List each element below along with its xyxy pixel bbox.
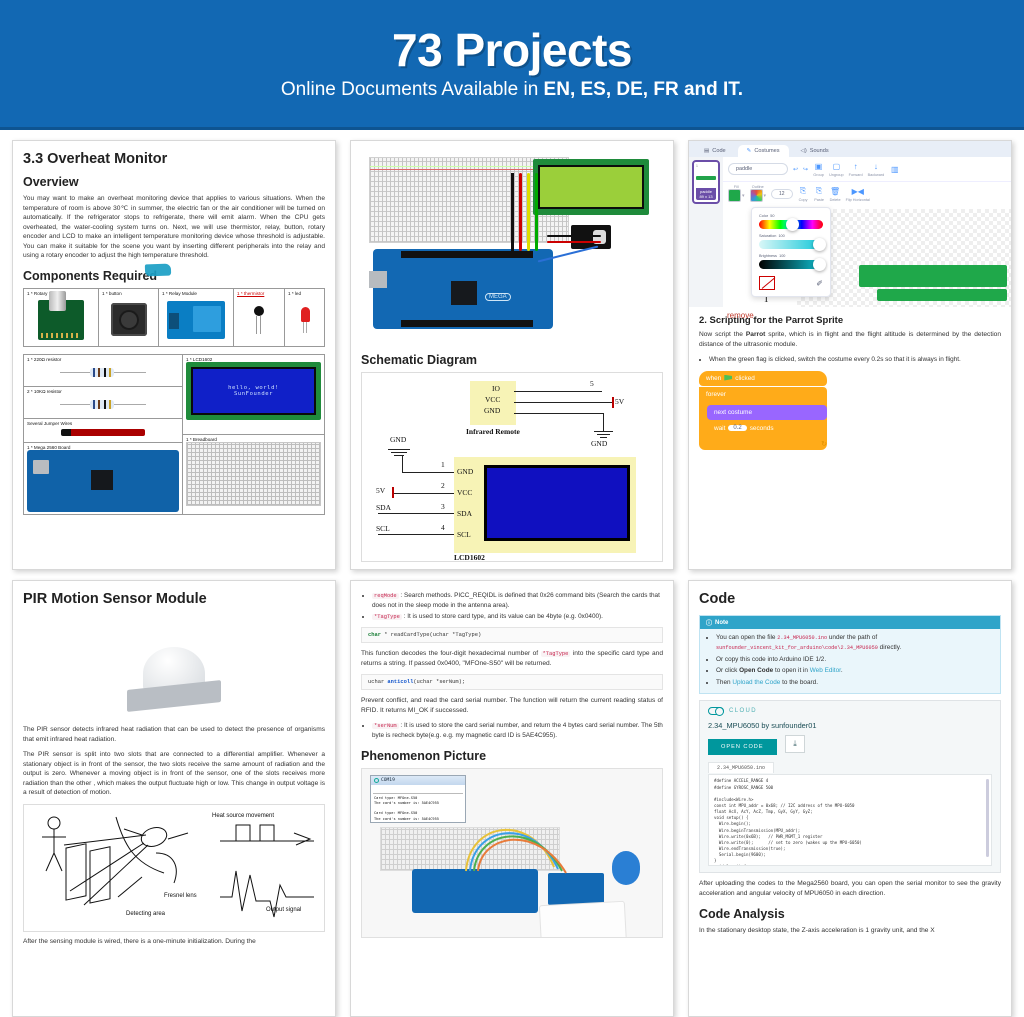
note-header: ⓘ Note [700,616,1000,629]
component-cell-jumper-wires: Several Jumper Wires [24,419,182,443]
scripting-bullet: When the green flag is clicked, switch t… [709,355,1001,365]
costume-name-input[interactable]: paddle [728,163,788,175]
code-type: uchar [368,679,387,685]
push-button-icon [102,296,155,344]
photo-rfid-module [548,873,604,905]
lcd-pin-vcc: VCC [457,488,472,497]
color-picker-popover[interactable]: Color 50 Saturation 100 Brightness 100 [751,207,831,297]
arduino-cloud-embed: CLOUD 2.34_MPU6050 by sunfounder01 OPEN … [699,700,1001,873]
note-item-upload: Then Upload the Code to the board. [716,678,994,688]
code-signature: * readCardType(uchar *TagType) [381,632,481,638]
lcd-pin-sda: SDA [457,509,472,518]
bullet-text: : Search methods. PICC_REQIDL is defined… [372,592,660,609]
code-icon: ▤ [704,148,709,154]
saturation-slider-row[interactable]: Saturation 100 [759,234,823,249]
block-next-costume[interactable]: next costume [707,405,827,420]
serial-monitor-window[interactable]: COM19 Card type: MFOne-S50 The card's nu… [370,775,466,824]
tool-label: Forward [849,173,863,177]
panel-code: Code ⓘ Note You can open the file 2.34_M… [688,580,1012,1017]
note-file-name: 2.34_MPU6050.ino [777,635,827,641]
note-text: Or copy this code into Arduino IDE 1/2. [716,656,826,663]
green-flag-icon [724,375,732,382]
backward-button[interactable]: ↓Backward [868,161,885,177]
panel-pir-motion-sensor: PIR Motion Sensor Module The PIR sensor … [12,580,336,1017]
sound-icon: ◁) [801,148,807,154]
breadboard-icon [186,442,321,506]
rfid-bullet-reqmode: reqMode : Search methods. PICC_REQIDL is… [372,591,663,610]
brightness-label: Brightness [759,254,777,258]
saturation-value: 100 [778,234,784,238]
text-part-a: This function decodes the four-digit hex… [361,650,541,657]
code-analysis-text: In the stationary desktop state, the Z-a… [699,926,1001,936]
page-banner: 73 Projects Online Documents Available i… [0,0,1024,130]
arrow-up-icon: ↑ [850,161,861,172]
overheat-title: 3.3 Overheat Monitor [23,151,325,167]
overview-heading: Overview [23,175,325,189]
label-fresnel-lens: Fresnel lens [164,893,197,899]
code-analysis-heading: Code Analysis [699,907,1001,921]
ir-pin-vcc: VCC [485,395,500,404]
paint-toolbar-top: paddle ↩ ↪ ▣Group ▢Ungroup ↑Forward ↓Bac… [723,157,1011,182]
component-cell-relay-module: 1 * Relay Module [159,289,234,346]
fritzing-wiring-diagram: MEGA [361,149,663,345]
color-slider-row[interactable]: Color 50 [759,214,823,229]
note-box: ⓘ Note You can open the file 2.34_MPU605… [699,615,1001,694]
code-listing: #define ACCELE_RANGE 4 #define GYROSC_RA… [714,778,986,866]
tool-label: Ungroup [829,173,844,177]
resistor-icon [27,394,179,416]
ir-gnd-symbol-label: GND [591,439,607,448]
lcd-wire-num-3: 3 [441,502,445,511]
block-label-forever: forever [706,391,726,398]
paddle-shape[interactable] [859,265,1007,287]
tool-label: Flip Horizontal [846,198,870,202]
lcd-caption: LCD1602 [454,553,485,562]
lcd-pin-gnd: GND [457,467,473,476]
code-viewer[interactable]: #define ACCELE_RANGE 4 #define GYROSC_RA… [708,774,992,866]
bullet-text: : It is used to store the card serial nu… [372,722,663,739]
lcd-pin-scl: SCL [457,530,471,539]
panel-scratch-costume-editor: ▤ Code ✎ Costumes ◁) Sounds 1 [688,140,1012,570]
paste-icon: ⎘ [814,186,825,197]
rfid-paragraph-1: This function decodes the four-digit hex… [361,649,663,668]
arduino-infinity-icon [708,707,724,715]
costume-size: 89 x 13 [697,194,715,199]
sketch-title: 2.34_MPU6050 by sunfounder01 [708,721,992,730]
brightness-slider-row[interactable]: Brightness 100 [759,254,823,269]
block-label-when: when [706,375,721,382]
tab-code[interactable]: ▤ Code [695,145,735,157]
tool-label: Paste [814,198,824,202]
color-value: 50 [770,214,774,218]
outline-width-input[interactable]: 12 [771,189,793,199]
undo-icon[interactable]: ↩ [793,166,798,173]
ungroup-button[interactable]: ▢Ungroup [829,161,844,177]
download-icon[interactable]: ⤓ [785,735,805,753]
delete-button[interactable]: 🗑Delete [830,186,841,202]
remove-annotation: remove [727,311,754,320]
components-table-row2: 1 * 220Ω resistor 2 * 10KΩ resistor Seve… [23,354,325,515]
code-tagtype: *TagType [372,614,402,620]
wait-duration-input[interactable]: 0.2 [728,425,746,431]
banner-subtitle-prefix: Online Documents Available in [281,79,544,100]
fill-color-swatch[interactable] [728,189,741,202]
pir-module-photo [23,615,325,725]
thermistor-icon [237,296,281,344]
scratch-tabbar: ▤ Code ✎ Costumes ◁) Sounds [689,141,1011,157]
code-reqmode: reqMode [372,593,399,599]
cloud-label: CLOUD [729,708,757,714]
pir-paragraph-2: The PIR sensor is split into two slots t… [23,750,325,798]
ir-pin-gnd: GND [484,406,500,415]
saturation-label: Saturation [759,234,776,238]
banner-title: 73 Projects [392,27,632,73]
code-sernum: *serNum [372,723,399,729]
rfid-bullet-tagtype: *TagType : It is used to store card type… [372,612,663,622]
flip-horizontal-button[interactable]: ▶◀Flip Horizontal [846,186,870,202]
scripting-section-text: Now script the Parrot sprite, which is i… [699,330,1001,349]
label-output-signal: Output signal [266,907,301,913]
note-text: Then [716,679,732,686]
components-heading: Components Required [23,269,157,283]
serial-input-field[interactable] [373,787,463,794]
schematic-diagram: IO VCC GND Infrared Remote 5 5V GND GND [361,372,663,562]
component-cell-220ohm: 1 * 220Ω resistor [24,355,182,387]
photo-rfid-card [539,900,627,937]
costume-preview-icon [696,168,716,188]
copy-button[interactable]: ⎘Copy [798,186,809,202]
text-bold-parrot: Parrot [746,331,765,338]
code-anticoll: uchar anticoll(uchar *serNum); [361,674,663,690]
component-cell-rotary-encoder: 1 * Rotary Encoder [24,289,99,346]
code-scrollbar[interactable] [986,779,989,857]
ir-signal-pin: 5 [590,379,594,388]
lcd-wire-num-2: 2 [441,481,445,490]
color-label: Color [759,214,768,218]
block-when-flag-clicked[interactable]: when clicked [699,371,827,386]
rfid-bullet-sernum: *serNum : It is used to store the card s… [372,721,663,740]
note-text: to open it in [773,667,810,674]
lcd-5v-label: 5V [376,486,385,495]
pir-diagram-svg: Heat source movement Fresnel lens Detect… [24,805,324,931]
panel-wiring-schematic: MEGA Schematic Diagram IO VCC GND Infrar… [350,140,674,570]
banner-subtitle-languages: EN, ES, DE, FR and IT. [544,79,744,100]
lcd1602-screen [484,465,630,541]
note-item-open-code: Or click Open Code to open it in Web Edi… [716,666,994,676]
component-cell-lcd1602: 1 * LCD1602 hello, world! SunFounder [183,355,324,435]
tool-label: Backward [868,173,885,177]
arrow-down-icon: ↓ [870,161,881,172]
code-function-name: anticoll [387,679,413,685]
phenomenon-photo: COM19 Card type: MFOne-S50 The card's nu… [361,768,663,938]
tab-sounds[interactable]: ◁) Sounds [792,145,838,157]
component-cell-led: 1 * led [285,289,324,346]
resistor-icon [27,362,179,384]
rfid-paragraph-2: Prevent conflict, and read the card seri… [361,696,663,715]
costume-list: 1 paddle 89 x 13 [689,157,723,307]
components-table-row1: 1 * Rotary Encoder 1 * button 1 * Relay … [23,288,325,347]
component-cell-breadboard: 1 * Breadboard [183,435,324,514]
cloud-header: CLOUD [708,707,992,715]
mega2560-board-icon [27,450,179,512]
banner-subtitle: Online Documents Available in EN, ES, DE… [281,79,743,101]
tool-label: Delete [830,198,841,202]
tab-label: Costumes [754,148,779,154]
trash-icon: 🗑 [830,186,841,197]
flip-horizontal-icon: ▶◀ [852,186,863,197]
paste-button[interactable]: ⎘Paste [814,186,825,202]
note-text: to the board. [780,679,818,686]
brightness-value: 100 [779,254,785,258]
paint-toolbar-bottom: Fill ▾ Outline ▾ 12 ⎘Copy [723,182,1011,205]
code-readcardtype: char * readCardType(uchar *TagType) [361,627,663,643]
pir-paragraph-3: After the sensing module is wired, there… [23,937,325,947]
rfid-bullet-list: reqMode : Search methods. PICC_REQIDL is… [361,591,663,622]
jumper-wires-icon [27,426,179,440]
block-label-seconds: seconds [750,425,774,432]
block-forever-body: next costume wait 0.2 seconds [699,402,827,438]
label-detecting-area: Detecting area [126,911,166,917]
panels-grid: 3.3 Overheat Monitor Overview You may wa… [0,130,1024,1017]
note-item-open-file: You can open the file 2.34_MPU6050.ino u… [716,633,994,653]
tab-label: Code [712,148,725,154]
lcd-line-2: SunFounder [234,391,273,397]
upload-code-link[interactable]: Upload the Code [732,679,780,686]
code-heading: Code [699,591,1001,607]
front-button[interactable]: ▥ [889,164,900,175]
note-file-path: sunfounder_vincent_kit_for_arduino\code\… [716,645,878,651]
overview-text: You may want to make an overheat monitor… [23,194,325,261]
note-text: Or click [716,667,739,674]
component-cell-thermistor: 1 * thermistor [234,289,285,346]
block-label-clicked: clicked [735,375,755,382]
ungroup-icon: ▢ [831,161,842,172]
ir-receiver-graphic [571,225,611,249]
tab-label: Sounds [810,148,829,154]
ir-5v-label: 5V [615,397,624,406]
note-bold-open-code: Open Code [739,667,773,674]
component-cell-10kohm: 2 * 10KΩ resistor [24,387,182,419]
block-label-wait: wait [714,425,725,432]
block-wait-seconds[interactable]: wait 0.2 seconds [707,422,827,435]
web-editor-link[interactable]: Web Editor [810,667,841,674]
bullet-text: : It is used to store card type, and its… [402,613,603,620]
lcd-sda-label: SDA [376,503,391,512]
photo-rfid-keytag [612,851,640,885]
phenomenon-heading: Phenomenon Picture [361,749,663,763]
block-forever[interactable]: forever [699,387,827,402]
photo-ribbon-cable [458,805,568,875]
copy-icon: ⎘ [798,186,809,197]
panel-rfid-functions: reqMode : Search methods. PICC_REQIDL is… [350,580,674,1017]
note-text: . [841,667,843,674]
arduino-icon [374,778,379,783]
hue-slider[interactable] [759,220,823,229]
schematic-heading: Schematic Diagram [361,353,663,367]
rotary-encoder-icon [27,296,95,344]
arduino-mega-graphic: MEGA [373,249,553,329]
scratch-script-blocks[interactable]: when clicked forever next costume wait 0… [699,371,827,450]
note-item-copy-ide: Or copy this code into Arduino IDE 1/2. [716,655,994,665]
lcd1602-green-graphic [533,159,649,215]
pir-title: PIR Motion Sensor Module [23,591,325,607]
brightness-slider[interactable] [759,260,823,269]
outline-color-swatch[interactable] [750,189,763,202]
brush-icon: ✎ [747,148,752,154]
info-icon: ⓘ [706,618,712,627]
code-tagtype-inline: *TagType [541,651,571,657]
lcd-scl-label: SCL [376,524,390,533]
code-args: (uchar *serNum); [413,679,465,685]
lcd-gnd-label: GND [390,435,406,444]
open-code-button[interactable]: OPEN CODE [708,739,777,755]
group-button[interactable]: ▣Group [813,161,824,177]
relay-module-icon [162,296,230,344]
lcd-wire-num-4: 4 [441,523,445,532]
serial-port-label: COM19 [381,778,395,783]
label-heat-source: Heat source movement [212,813,274,819]
photo-arduino-mega [412,869,538,913]
ir-pin-io: IO [492,384,500,393]
sketch-file-tab[interactable]: 2.34_MPU6050.ino [708,762,774,773]
code-after-text: After uploading the codes to the Mega256… [699,879,1001,898]
lcd-wire-num-1: 1 [441,460,445,469]
tool-label: Copy [799,198,808,202]
no-color-swatch[interactable] [759,276,775,290]
serial-monitor-titlebar: COM19 [371,776,465,785]
forward-button[interactable]: ↑Forward [849,161,863,177]
group-icon: ▣ [813,161,824,172]
text-part-1: Now script the [699,331,746,338]
panel-overheat-monitor: 3.3 Overheat Monitor Overview You may wa… [12,140,336,570]
tool-label: Group [813,173,824,177]
ir-caption: Infrared Remote [466,427,520,436]
note-text: directly. [878,644,901,651]
led-icon [288,296,321,344]
front-icon: ▥ [889,164,900,175]
loop-arrow-icon: ↻ [699,438,827,450]
costume-thumbnail-item[interactable]: 1 paddle 89 x 13 [692,160,720,204]
saturation-slider[interactable] [759,240,823,249]
pir-principle-diagram: Heat source movement Fresnel lens Detect… [23,804,325,932]
pir-paragraph-1: The PIR sensor detects infrared heat rad… [23,725,325,744]
rfid-bullet-list-2: *serNum : It is used to store the card s… [361,721,663,740]
component-cell-button: 1 * button [99,289,159,346]
lcd1602-icon: hello, world! SunFounder [186,362,321,420]
redo-icon[interactable]: ↪ [803,166,808,173]
tab-costumes[interactable]: ✎ Costumes [738,145,789,157]
code-keyword: char [368,632,381,638]
serial-line: The card's number is: 5AE4C955 [371,817,465,822]
paddle-shape-secondary[interactable] [877,289,1007,301]
note-text: under the path of [827,634,877,641]
note-title: Note [715,620,728,626]
eyedropper-icon[interactable]: ✐ [816,279,823,288]
note-text: You can open the file [716,634,777,641]
component-cell-mega2560: 1 * Mega 2560 Board [24,443,182,514]
